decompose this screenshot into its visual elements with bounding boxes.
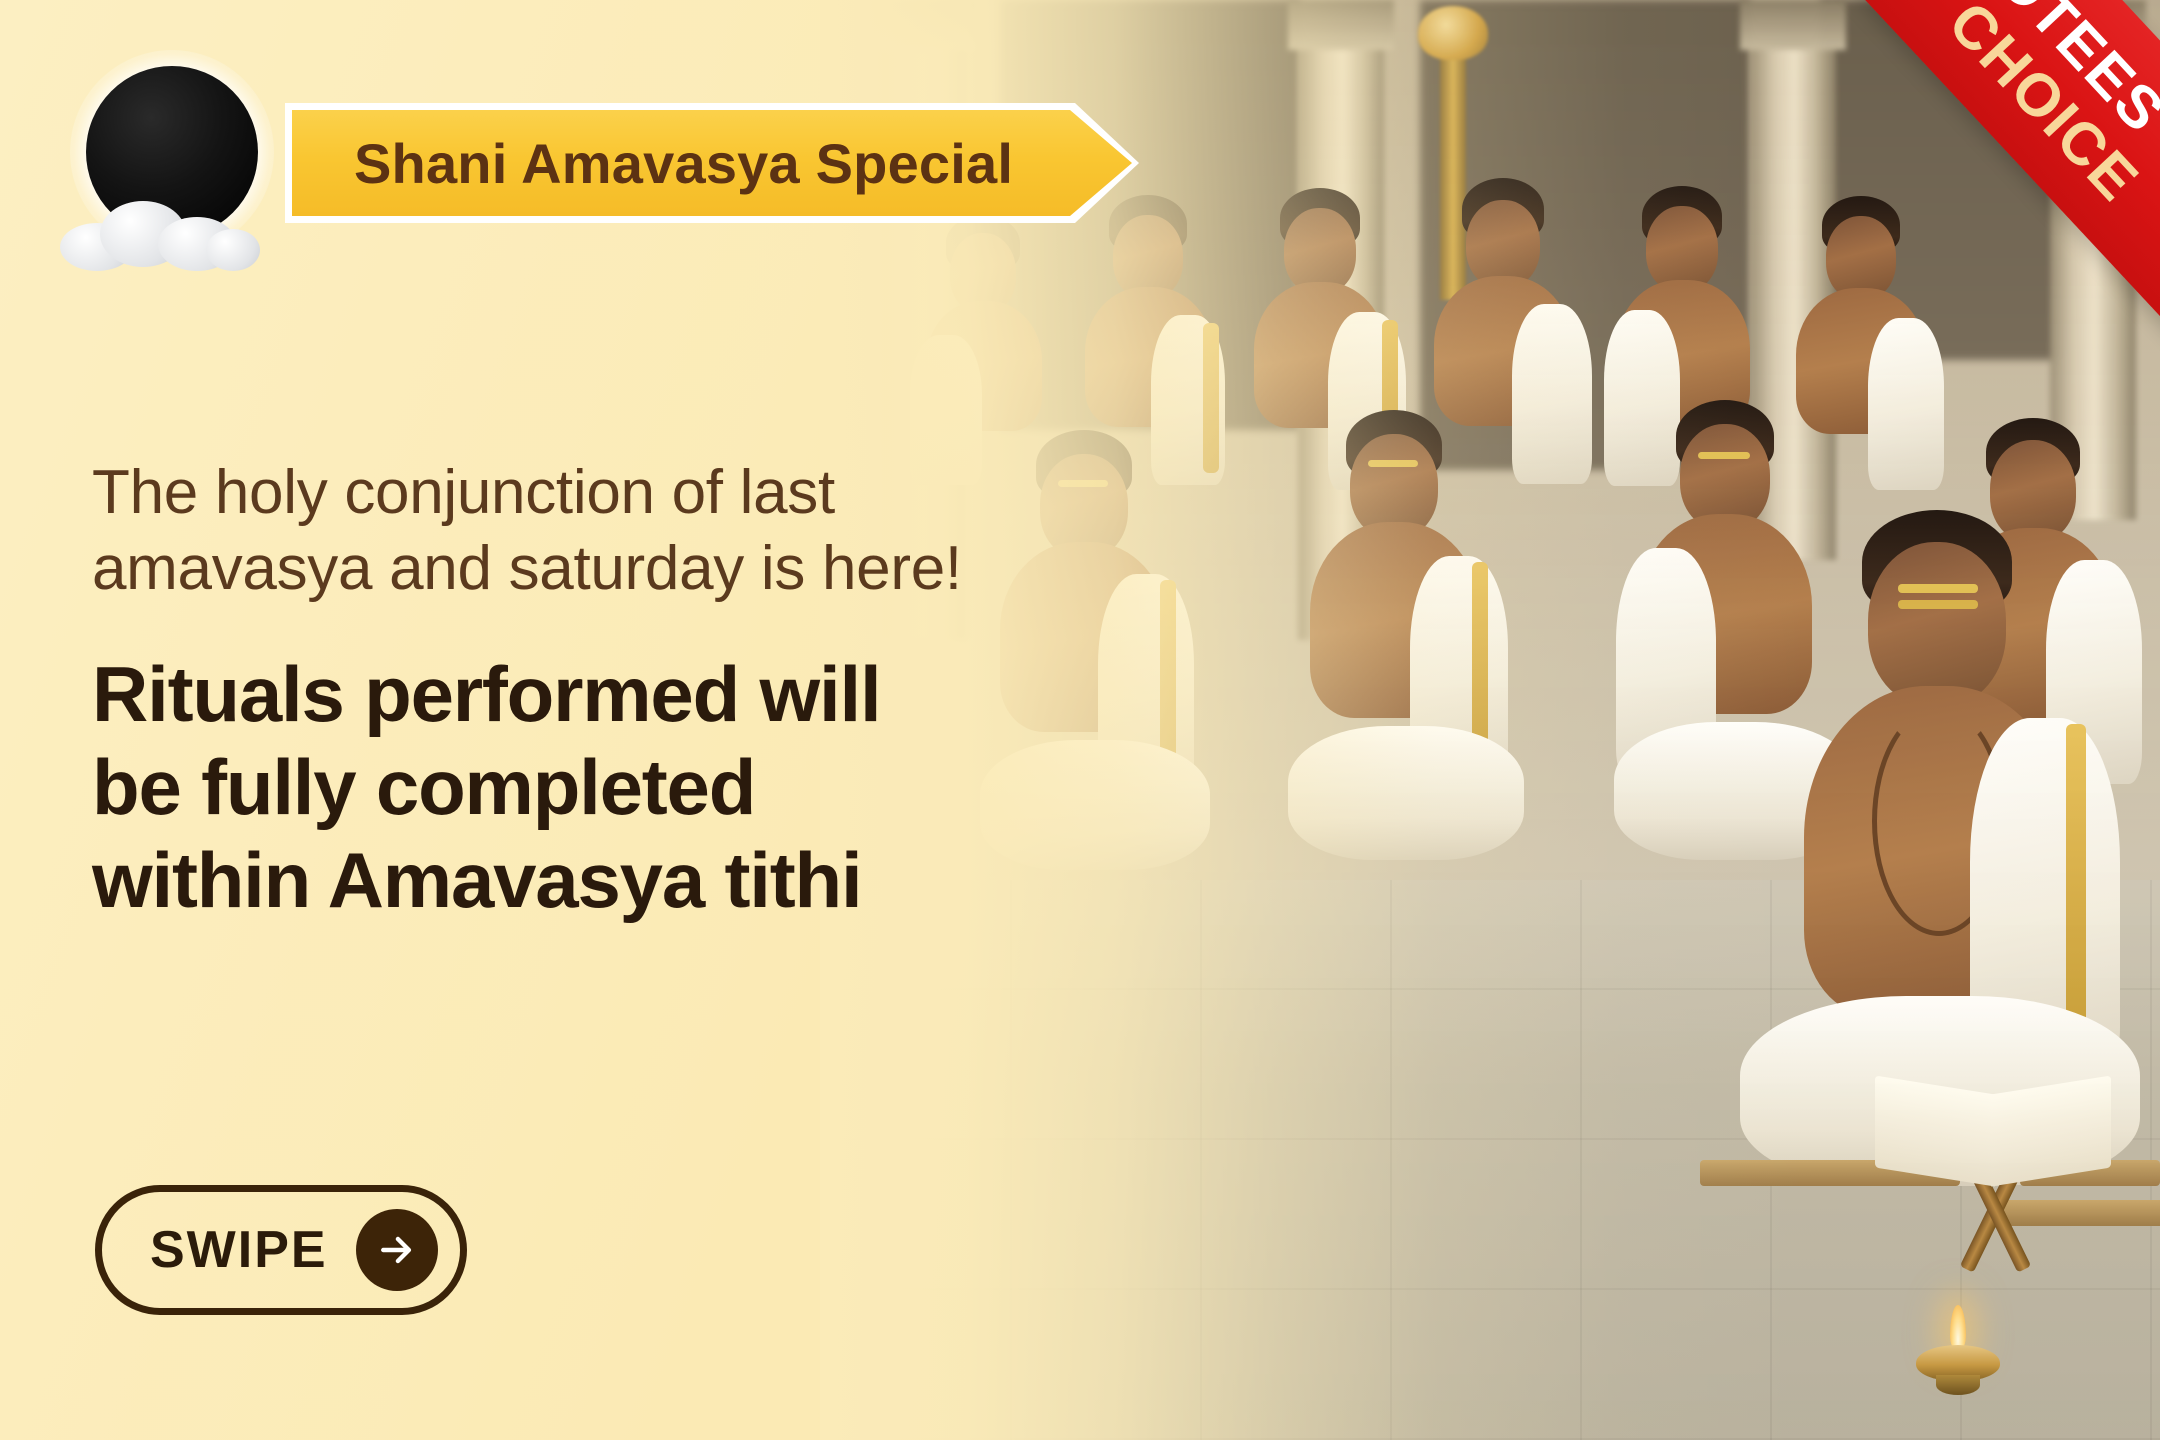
cloud-icon — [60, 195, 260, 269]
title-tag-label: Shani Amavasya Special — [354, 131, 1013, 196]
swipe-button[interactable]: SWIPE — [95, 1185, 467, 1315]
headline-line-1: Rituals performed will — [92, 648, 1122, 741]
swipe-label: SWIPE — [150, 1220, 328, 1280]
headline-line-2: be fully completed — [92, 741, 1122, 834]
copy-block: The holy conjunction of last amavasya an… — [92, 455, 1122, 927]
title-tag: Shani Amavasya Special — [292, 110, 1132, 216]
headline-line-3: within Amavasya tithi — [92, 834, 1122, 927]
subheading-line-2: amavasya and saturday is here! — [92, 531, 1122, 607]
subheading: The holy conjunction of last amavasya an… — [92, 455, 1122, 606]
promo-card: DEVOTEES' TOP CHOICE Shani Amavasya Spec… — [0, 0, 2160, 1440]
title-tag-fill: Shani Amavasya Special — [292, 110, 1132, 216]
arrow-right-icon[interactable] — [356, 1209, 438, 1291]
subheading-line-1: The holy conjunction of last — [92, 455, 1122, 531]
headline: Rituals performed will be fully complete… — [92, 648, 1122, 926]
